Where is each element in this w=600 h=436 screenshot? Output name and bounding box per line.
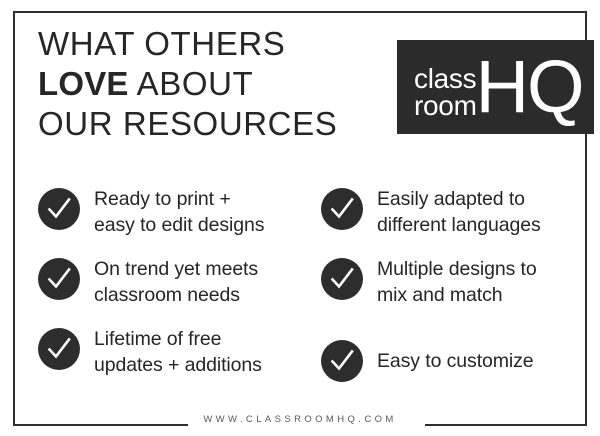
list-item-label-line-2: updates + additions	[94, 352, 262, 378]
list-item-label-line-2: classroom needs	[94, 282, 258, 308]
list-item: Ready to print + easy to edit designs	[38, 186, 300, 256]
brand-logo-inner: class room HQ	[414, 54, 583, 120]
list-item-label: On trend yet meets classroom needs	[94, 256, 258, 308]
poster-canvas: WHAT OTHERS LOVE ABOUT OUR RESOURCES cla…	[0, 0, 600, 436]
list-item: Lifetime of free updates + additions	[38, 326, 300, 396]
check-circle-icon	[321, 258, 363, 300]
frame-border-left	[13, 11, 15, 426]
list-item-label-line-1: On trend yet meets	[94, 256, 258, 282]
list-item-label-line-1: Easily adapted to	[377, 186, 541, 212]
list-item-label-line-2: easy to edit designs	[94, 212, 264, 238]
brand-logo: class room HQ	[397, 40, 594, 134]
list-item-label: Easy to customize	[377, 348, 534, 374]
brand-logo-word-room: room	[414, 92, 477, 119]
list-item: Easily adapted to different languages	[321, 186, 583, 256]
benefits-column-left: Ready to print + easy to edit designs On…	[38, 186, 300, 396]
list-item-label-line-1: Multiple designs to	[377, 256, 537, 282]
list-item-label: Easily adapted to different languages	[377, 186, 541, 238]
brand-logo-wordmark: class room	[414, 54, 477, 119]
list-item-label-line-1: Easy to customize	[377, 348, 534, 374]
list-item-label-line-2: different languages	[377, 212, 541, 238]
check-circle-icon	[38, 328, 80, 370]
list-item-label: Ready to print + easy to edit designs	[94, 186, 264, 238]
frame-border-top	[13, 11, 587, 13]
benefits-column-right: Easily adapted to different languages Mu…	[321, 186, 583, 396]
check-circle-icon	[38, 188, 80, 230]
list-item: On trend yet meets classroom needs	[38, 256, 300, 326]
page-title-emphasis: LOVE	[38, 65, 129, 102]
list-item-label-line-2: mix and match	[377, 282, 537, 308]
brand-logo-word-class: class	[414, 65, 477, 92]
footer-website-url: WWW.CLASSROOMHQ.COM	[0, 414, 600, 425]
list-item: Easy to customize	[321, 326, 583, 396]
list-item-label: Multiple designs to mix and match	[377, 256, 537, 308]
brand-logo-mark-hq: HQ	[476, 54, 583, 120]
check-circle-icon	[321, 188, 363, 230]
page-title: WHAT OTHERS LOVE ABOUT OUR RESOURCES	[38, 24, 368, 144]
page-title-line-3: OUR RESOURCES	[38, 104, 368, 144]
check-circle-icon	[38, 258, 80, 300]
list-item-label-line-1: Ready to print +	[94, 186, 264, 212]
page-title-line-1: WHAT OTHERS	[38, 24, 368, 64]
list-item-label-line-1: Lifetime of free	[94, 326, 262, 352]
list-item: Multiple designs to mix and match	[321, 256, 583, 326]
page-title-line-2: LOVE ABOUT	[38, 64, 368, 104]
page-title-line-2-rest: ABOUT	[129, 65, 254, 102]
check-circle-icon	[321, 340, 363, 382]
list-item-label: Lifetime of free updates + additions	[94, 326, 262, 378]
